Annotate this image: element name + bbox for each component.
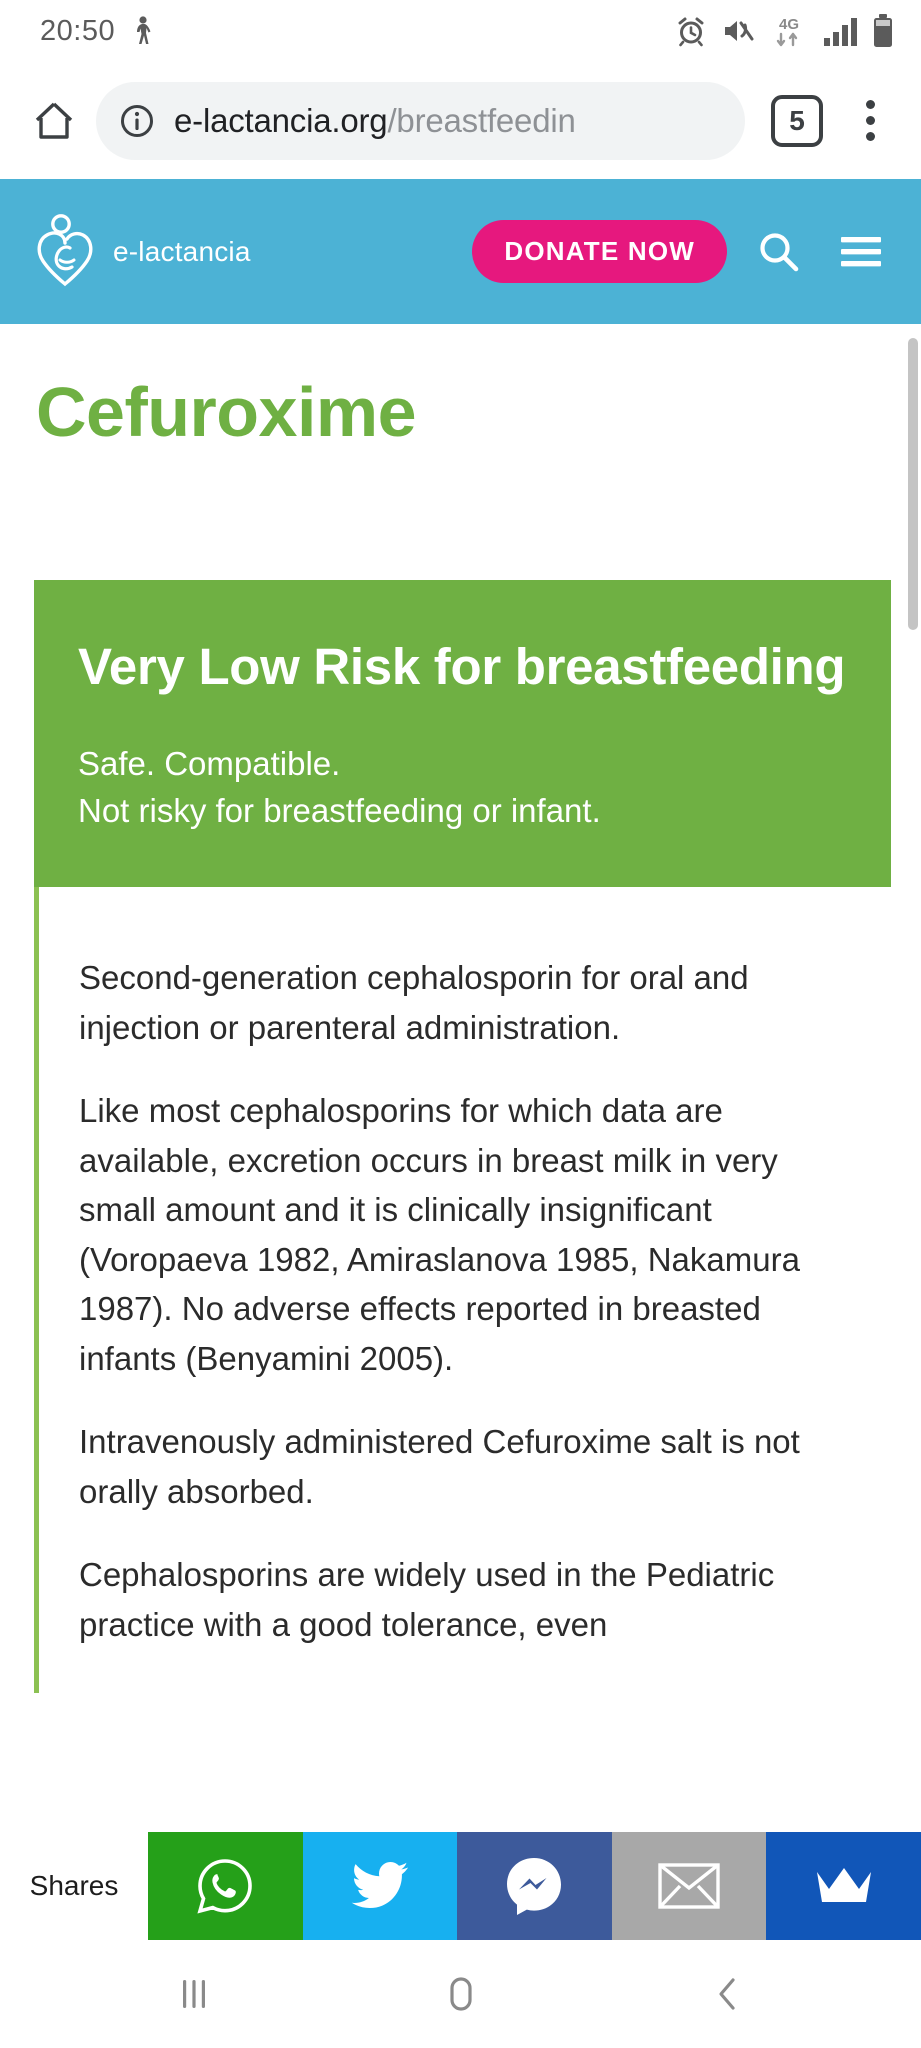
messenger-icon [504, 1855, 564, 1917]
url-path: /breastfeedin [387, 102, 575, 139]
share-more-button[interactable] [766, 1832, 921, 1940]
hamburger-menu-icon [838, 232, 884, 272]
android-status-bar: 20:50 4G [0, 0, 921, 62]
shares-label: Shares [0, 1832, 148, 1940]
page-content: Cefuroxime Very Low Risk for breastfeedi… [0, 324, 921, 1693]
4g-data-icon: 4G [769, 14, 809, 48]
whatsapp-icon [194, 1855, 256, 1917]
back-chevron-icon [706, 1972, 750, 2016]
android-nav-bar [0, 1940, 921, 2048]
share-twitter-button[interactable] [303, 1832, 458, 1940]
risk-card: Very Low Risk for breastfeeding Safe. Co… [34, 580, 891, 1694]
site-logo-link[interactable]: e-lactancia [34, 213, 251, 291]
home-icon [31, 98, 77, 144]
back-button[interactable] [673, 1954, 783, 2034]
url-text: e-lactancia.org/breastfeedin [174, 102, 576, 140]
share-email-button[interactable] [612, 1832, 767, 1940]
info-circle-icon[interactable] [118, 102, 156, 140]
risk-level-banner: Very Low Risk for breastfeeding Safe. Co… [34, 580, 891, 888]
envelope-icon [658, 1862, 720, 1910]
tab-switcher-button[interactable]: 5 [771, 95, 823, 147]
recents-button[interactable] [139, 1954, 249, 2034]
page-scrollbar[interactable] [908, 338, 918, 630]
risk-subtitle-line-2: Not risky for breastfeeding or infant. [78, 787, 847, 835]
tab-count: 5 [789, 107, 805, 135]
svg-text:4G: 4G [779, 16, 799, 33]
description-paragraph: Second-generation cephalosporin for oral… [79, 953, 851, 1052]
risk-level-title: Very Low Risk for breastfeeding [78, 638, 847, 696]
menu-dot [866, 132, 875, 141]
home-circle-icon [438, 1971, 484, 2017]
mute-speaker-icon [721, 16, 755, 46]
crown-icon [814, 1864, 874, 1908]
description-paragraph: Like most cephalosporins for which data … [79, 1086, 851, 1383]
search-icon [756, 229, 802, 275]
twitter-bird-icon [350, 1859, 410, 1913]
hamburger-menu-button[interactable] [831, 222, 891, 282]
risk-subtitle-line-1: Safe. Compatible. [78, 740, 847, 788]
brand-name: e-lactancia [113, 236, 251, 268]
status-bar-left: 20:50 [40, 15, 153, 48]
search-button[interactable] [749, 222, 809, 282]
person-walking-icon [131, 16, 153, 46]
home-button[interactable] [406, 1954, 516, 2034]
browser-menu-button[interactable] [841, 89, 899, 153]
page-title: Cefuroxime [0, 324, 921, 450]
phone-screen: 20:50 4G [0, 0, 921, 2048]
status-bar-right: 4G [675, 14, 895, 48]
donate-now-button[interactable]: DONATE NOW [472, 220, 727, 283]
battery-icon [871, 14, 895, 48]
description-paragraph: Cephalosporins are widely used in the Pe… [79, 1550, 851, 1649]
description-paragraph: Intravenously administered Cefuroxime sa… [79, 1417, 851, 1516]
social-share-bar: Shares [0, 1832, 921, 1940]
share-messenger-button[interactable] [457, 1832, 612, 1940]
status-bar-clock: 20:50 [40, 15, 115, 48]
mother-baby-heart-logo [34, 213, 96, 291]
site-header: e-lactancia DONATE NOW [0, 179, 921, 324]
recents-icon [172, 1972, 216, 2016]
address-bar[interactable]: e-lactancia.org/breastfeedin [96, 82, 745, 160]
home-button[interactable] [22, 89, 86, 153]
drug-description-body: Second-generation cephalosporin for oral… [34, 887, 891, 1693]
url-domain: e-lactancia.org [174, 102, 387, 139]
signal-bars-icon [823, 16, 857, 46]
alarm-clock-icon [675, 15, 707, 47]
browser-toolbar: e-lactancia.org/breastfeedin 5 [0, 62, 921, 179]
share-whatsapp-button[interactable] [148, 1832, 303, 1940]
menu-dot [866, 116, 875, 125]
menu-dot [866, 100, 875, 109]
